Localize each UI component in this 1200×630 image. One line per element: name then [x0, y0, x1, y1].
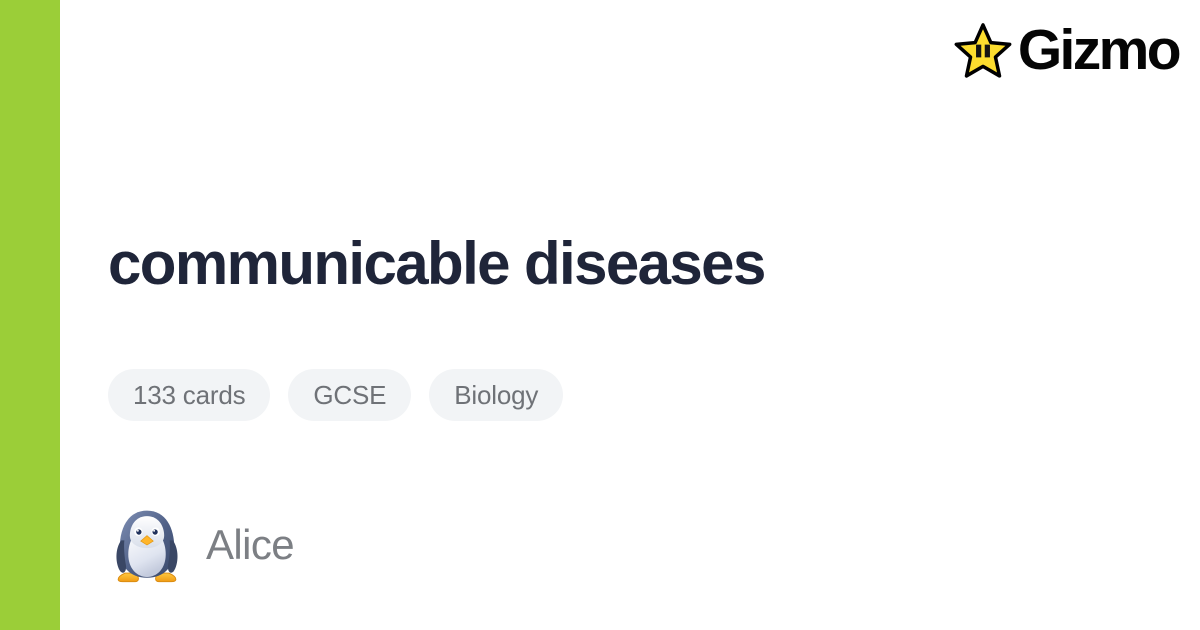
- author-row: Alice: [108, 505, 294, 585]
- brand-logo[interactable]: Gizmo: [954, 22, 1179, 79]
- pill-level: GCSE: [288, 369, 411, 421]
- share-card: Gizmo communicable diseases 133 cards GC…: [0, 0, 1200, 630]
- star-face-icon: [954, 23, 1012, 79]
- card-body: Gizmo communicable diseases 133 cards GC…: [60, 0, 1200, 630]
- page-title: communicable diseases: [108, 232, 765, 297]
- brand-name: Gizmo: [1018, 22, 1179, 79]
- left-accent-bar: [0, 0, 60, 630]
- penguin-avatar-icon: [108, 506, 186, 584]
- deck-meta-pills: 133 cards GCSE Biology: [108, 369, 563, 421]
- pill-subject: Biology: [429, 369, 563, 421]
- author-name: Alice: [206, 524, 294, 566]
- pill-card-count: 133 cards: [108, 369, 270, 421]
